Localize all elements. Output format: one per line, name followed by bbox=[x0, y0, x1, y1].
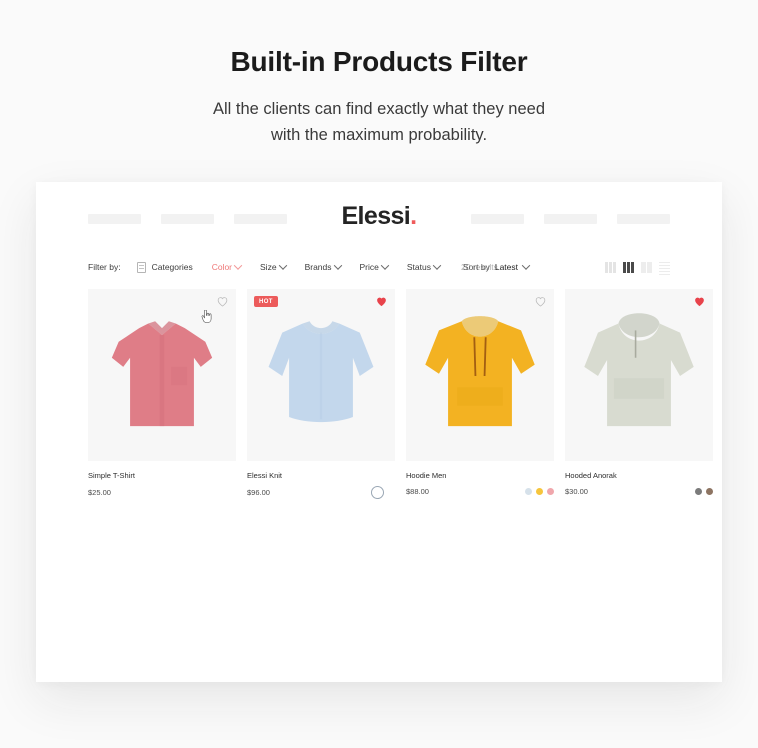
page-subtitle: All the clients can find exactly what th… bbox=[169, 97, 589, 148]
mouse-cursor-hand-icon bbox=[201, 310, 212, 323]
shop-header: Elessi. bbox=[36, 182, 722, 254]
view-mode-toggles bbox=[605, 262, 670, 273]
product-price: $25.00 bbox=[88, 488, 111, 497]
filter-item-label: Categories bbox=[152, 262, 193, 272]
product-title[interactable]: Hooded Anorak bbox=[565, 471, 713, 480]
chevron-down-icon bbox=[433, 261, 441, 269]
color-swatch-dot[interactable] bbox=[536, 488, 543, 495]
page-title: Built-in Products Filter bbox=[0, 44, 758, 79]
wishlist-heart-filled-icon[interactable] bbox=[694, 296, 705, 307]
color-swatch-dot[interactable] bbox=[706, 488, 713, 495]
sort-by-label: Sort by bbox=[463, 262, 490, 272]
filter-item-label: Status bbox=[407, 262, 431, 272]
product-price: $30.00 bbox=[565, 487, 588, 496]
sort-by-value: Latest bbox=[495, 262, 518, 272]
product-garment-illustration bbox=[582, 305, 696, 447]
filter-toolbar: Filter by: CategoriesColorSizeBrandsPric… bbox=[88, 254, 670, 280]
view-toggle-grid-2-col[interactable] bbox=[605, 262, 616, 273]
filter-item-color[interactable]: Color bbox=[212, 262, 241, 272]
filter-toolbar-right: Sort by Latest bbox=[463, 254, 670, 280]
wishlist-heart-icon[interactable] bbox=[535, 296, 546, 307]
product-title[interactable]: Simple T-Shirt bbox=[88, 471, 236, 480]
product-title[interactable]: Hoodie Men bbox=[406, 471, 554, 480]
hero-section: Built-in Products Filter All the clients… bbox=[0, 0, 758, 148]
product-garment-illustration bbox=[423, 305, 537, 447]
product-artwork bbox=[582, 305, 696, 447]
color-swatch-thumbnail[interactable] bbox=[373, 487, 382, 498]
filter-item-label: Size bbox=[260, 262, 277, 272]
view-toggle-grid-4-col[interactable] bbox=[641, 262, 652, 273]
shop-preview-panel: Elessi. Filter by: CategoriesColorSizeBr… bbox=[36, 182, 722, 682]
product-footer: $30.00 bbox=[565, 487, 713, 496]
product-card[interactable]: Hooded Anorak$30.00 bbox=[565, 289, 713, 498]
chevron-down-icon bbox=[333, 261, 341, 269]
filter-item-categories[interactable]: Categories bbox=[137, 262, 193, 273]
product-garment-illustration bbox=[264, 305, 378, 447]
wishlist-heart-filled-icon[interactable] bbox=[376, 296, 387, 307]
filter-item-label: Brands bbox=[305, 262, 332, 272]
product-artwork bbox=[423, 305, 537, 447]
product-garment-illustration bbox=[105, 305, 219, 447]
product-color-swatches bbox=[695, 488, 713, 495]
color-swatch-dot[interactable] bbox=[695, 488, 702, 495]
chevron-down-icon bbox=[522, 261, 530, 269]
product-artwork bbox=[264, 305, 378, 447]
product-title[interactable]: Elessi Knit bbox=[247, 471, 395, 480]
product-image[interactable]: HOT bbox=[247, 289, 395, 461]
filter-items: CategoriesColorSizeBrandsPriceStatus bbox=[137, 262, 459, 273]
product-image[interactable] bbox=[565, 289, 713, 461]
site-logo-text: Elessi bbox=[341, 202, 410, 230]
product-artwork bbox=[105, 305, 219, 447]
product-color-swatches bbox=[214, 487, 236, 498]
product-image[interactable] bbox=[88, 289, 236, 461]
product-price: $96.00 bbox=[247, 488, 270, 497]
filter-item-brands[interactable]: Brands bbox=[305, 262, 341, 272]
product-card[interactable]: Simple T-Shirt$25.00 bbox=[88, 289, 236, 498]
filter-item-size[interactable]: Size bbox=[260, 262, 286, 272]
product-card[interactable]: HOTElessi Knit$96.00 bbox=[247, 289, 395, 498]
site-logo-dot: . bbox=[410, 202, 416, 230]
filter-item-label: Color bbox=[212, 262, 232, 272]
wishlist-heart-icon[interactable] bbox=[217, 296, 228, 307]
color-swatch-dot[interactable] bbox=[525, 488, 532, 495]
product-color-swatches bbox=[525, 488, 554, 495]
filter-item-status[interactable]: Status bbox=[407, 262, 440, 272]
product-footer: $96.00 bbox=[247, 487, 395, 498]
list-icon bbox=[137, 262, 146, 273]
chevron-down-icon bbox=[381, 261, 389, 269]
site-logo[interactable]: Elessi. bbox=[36, 198, 722, 234]
filter-by-label: Filter by: bbox=[88, 262, 121, 272]
product-color-swatches bbox=[360, 487, 395, 498]
page-subtitle-line-1: All the clients can find exactly what th… bbox=[213, 100, 545, 118]
color-swatch-thumbnail[interactable] bbox=[386, 487, 395, 498]
product-card[interactable]: Hoodie Men$88.00 bbox=[406, 289, 554, 498]
filter-toolbar-left: Filter by: CategoriesColorSizeBrandsPric… bbox=[88, 262, 498, 273]
color-swatch-dot[interactable] bbox=[547, 488, 554, 495]
page-subtitle-line-2: with the maximum probability. bbox=[271, 126, 487, 144]
status-badge: HOT bbox=[254, 296, 278, 307]
filter-item-price[interactable]: Price bbox=[360, 262, 388, 272]
chevron-down-icon bbox=[278, 261, 286, 269]
chevron-down-icon bbox=[234, 261, 242, 269]
product-footer: $25.00 bbox=[88, 487, 236, 498]
color-swatch-thumbnail[interactable] bbox=[214, 487, 223, 498]
product-grid: Simple T-Shirt$25.00HOTElessi Knit$96.00… bbox=[88, 289, 670, 498]
product-image[interactable] bbox=[406, 289, 554, 461]
color-swatch-thumbnail[interactable] bbox=[360, 487, 369, 498]
product-price: $88.00 bbox=[406, 487, 429, 496]
view-toggle-list-view[interactable] bbox=[659, 262, 670, 273]
color-swatch-thumbnail[interactable] bbox=[227, 487, 236, 498]
view-toggle-grid-3-col[interactable] bbox=[623, 262, 634, 273]
filter-item-label: Price bbox=[360, 262, 379, 272]
product-footer: $88.00 bbox=[406, 487, 554, 496]
sort-by-dropdown[interactable]: Sort by Latest bbox=[463, 262, 529, 272]
